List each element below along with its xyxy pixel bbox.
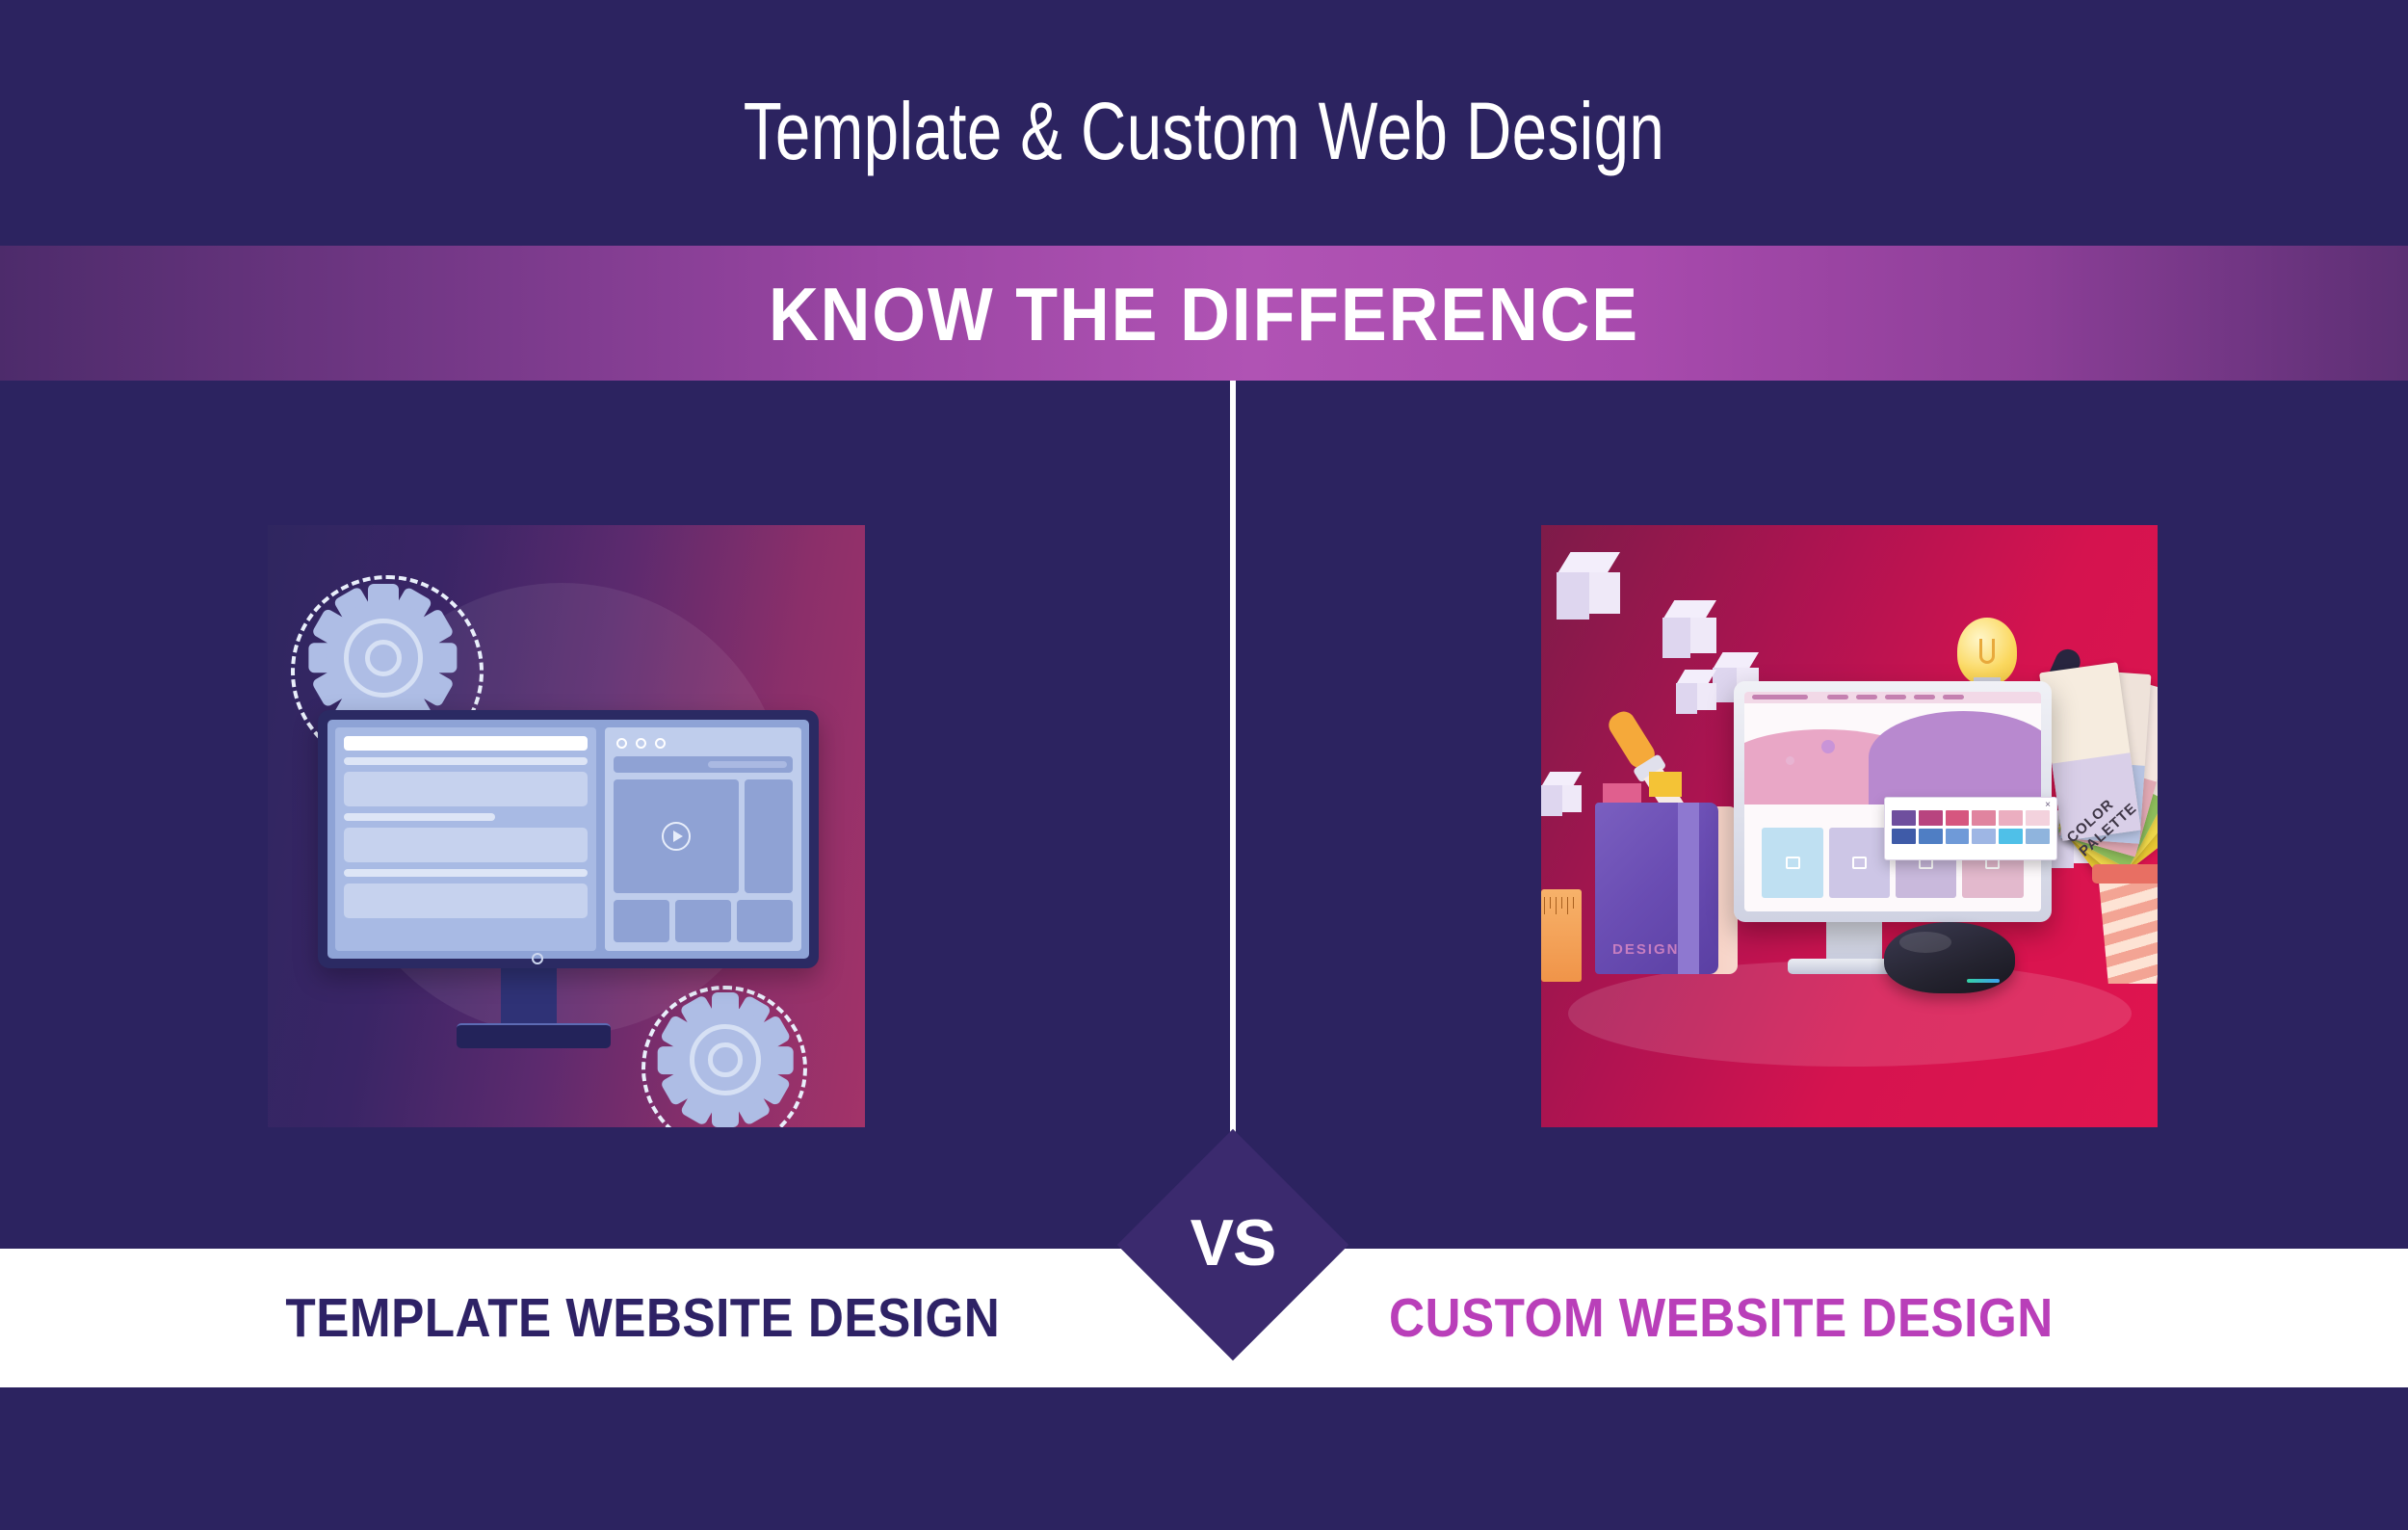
form-label	[344, 757, 588, 765]
monitor-neck	[501, 968, 557, 1028]
vs-badge: VS	[1130, 1142, 1336, 1348]
vs-label: VS	[1130, 1142, 1336, 1348]
desk-shadow	[1568, 961, 2132, 1067]
ruler-icon	[1541, 889, 1582, 982]
grid-tile	[737, 900, 793, 942]
gear-icon-bottom	[672, 1007, 778, 1113]
floating-cube	[1662, 600, 1716, 658]
design-monitor: ×	[1734, 681, 2052, 922]
monitor-base	[457, 1023, 611, 1048]
monitor-power-dot	[532, 953, 543, 964]
right-caption: CUSTOM WEBSITE DESIGN	[1348, 1249, 2408, 1387]
template-monitor	[318, 710, 819, 968]
design-notebook: DESIGN	[1595, 803, 1740, 976]
form-label	[344, 869, 588, 877]
close-icon[interactable]: ×	[2045, 801, 2051, 810]
content-block	[344, 772, 588, 806]
form-label	[344, 813, 495, 821]
floating-cube	[1541, 772, 1582, 816]
form-field	[344, 736, 588, 751]
grid-tile	[675, 900, 731, 942]
image-card	[1762, 828, 1822, 898]
left-caption-text: TEMPLATE WEBSITE DESIGN	[285, 1286, 1000, 1350]
preview-tiles	[614, 900, 793, 942]
notebook-label: DESIGN	[1612, 941, 1680, 958]
grid-tile	[614, 900, 669, 942]
infographic-canvas: Template & Custom Web Design KNOW THE DI…	[0, 0, 2408, 1530]
play-icon	[662, 822, 691, 851]
template-form-panel	[335, 727, 596, 951]
template-preview-panel	[605, 727, 801, 951]
page-title: Template & Custom Web Design	[265, 85, 2143, 177]
left-caption: TEMPLATE WEBSITE DESIGN	[0, 1249, 1069, 1387]
computer-mouse-icon	[1884, 922, 2015, 993]
color-palette-fan: COLOR PALETTE	[2061, 670, 2158, 862]
preview-navbar	[614, 756, 793, 773]
content-block	[344, 884, 588, 918]
sticky-note	[1649, 772, 1682, 797]
floating-cube	[1557, 552, 1620, 620]
gear-icon-top	[326, 600, 441, 716]
sidebar-tile	[745, 779, 793, 893]
swatch-row	[1892, 810, 2050, 826]
custom-website-illustration: COLOR PALETTE DESIGN	[1541, 525, 2158, 1127]
template-website-illustration	[268, 525, 865, 1127]
banner-subtitle: KNOW THE DIFFERENCE	[96, 252, 2312, 376]
monitor-screen	[327, 720, 809, 959]
canvas-artwork	[1744, 703, 2041, 805]
app-toolbar	[1744, 692, 2041, 703]
window-dots	[614, 736, 793, 750]
content-block	[344, 828, 588, 862]
coffee-cup-icon	[2092, 864, 2158, 984]
swatch-popup: ×	[1884, 797, 2057, 860]
vertical-divider	[1230, 381, 1236, 1151]
right-caption-text: CUSTOM WEBSITE DESIGN	[1389, 1286, 2054, 1350]
floating-cube	[1676, 670, 1716, 714]
swatch-row	[1892, 829, 2050, 844]
image-card	[1829, 828, 1890, 898]
video-tile	[614, 779, 739, 893]
preview-hero	[614, 779, 793, 893]
